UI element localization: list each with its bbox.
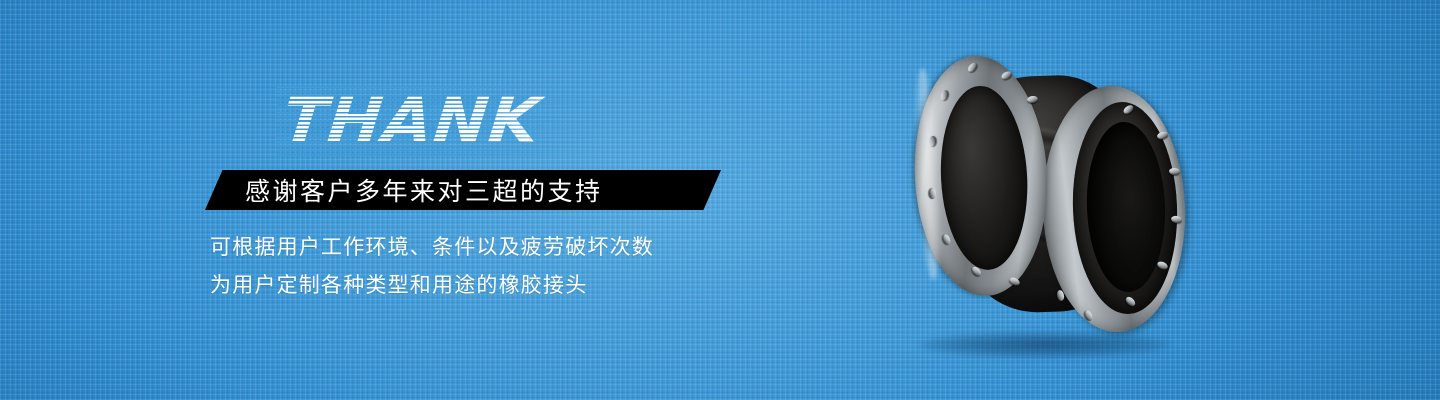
product-drop-shadow [919, 332, 1171, 358]
product-image-rubber-expansion-joint: DN-200 [905, 40, 1195, 370]
description-line-1: 可根据用户工作环境、条件以及疲劳破坏次数 [210, 228, 765, 266]
left-flange-bore [936, 84, 1032, 272]
banner-copy-block: THANK 感谢客户多年来对三超的支持 可根据用户工作环境、条件以及疲劳破坏次数… [205, 86, 765, 304]
promo-banner: THANK 感谢客户多年来对三超的支持 可根据用户工作环境、条件以及疲劳破坏次数… [0, 0, 1440, 400]
thank-wordmark: THANK [283, 86, 765, 158]
description-block: 可根据用户工作环境、条件以及疲劳破坏次数 为用户定制各种类型和用途的橡胶接头 [210, 228, 765, 304]
ribbon-headline: 感谢客户多年来对三超的支持 [245, 172, 603, 208]
thank-wordmark-text: THANK [279, 86, 543, 156]
description-line-2: 为用户定制各种类型和用途的橡胶接头 [210, 266, 765, 304]
ribbon-banner: 感谢客户多年来对三超的支持 [205, 170, 721, 210]
